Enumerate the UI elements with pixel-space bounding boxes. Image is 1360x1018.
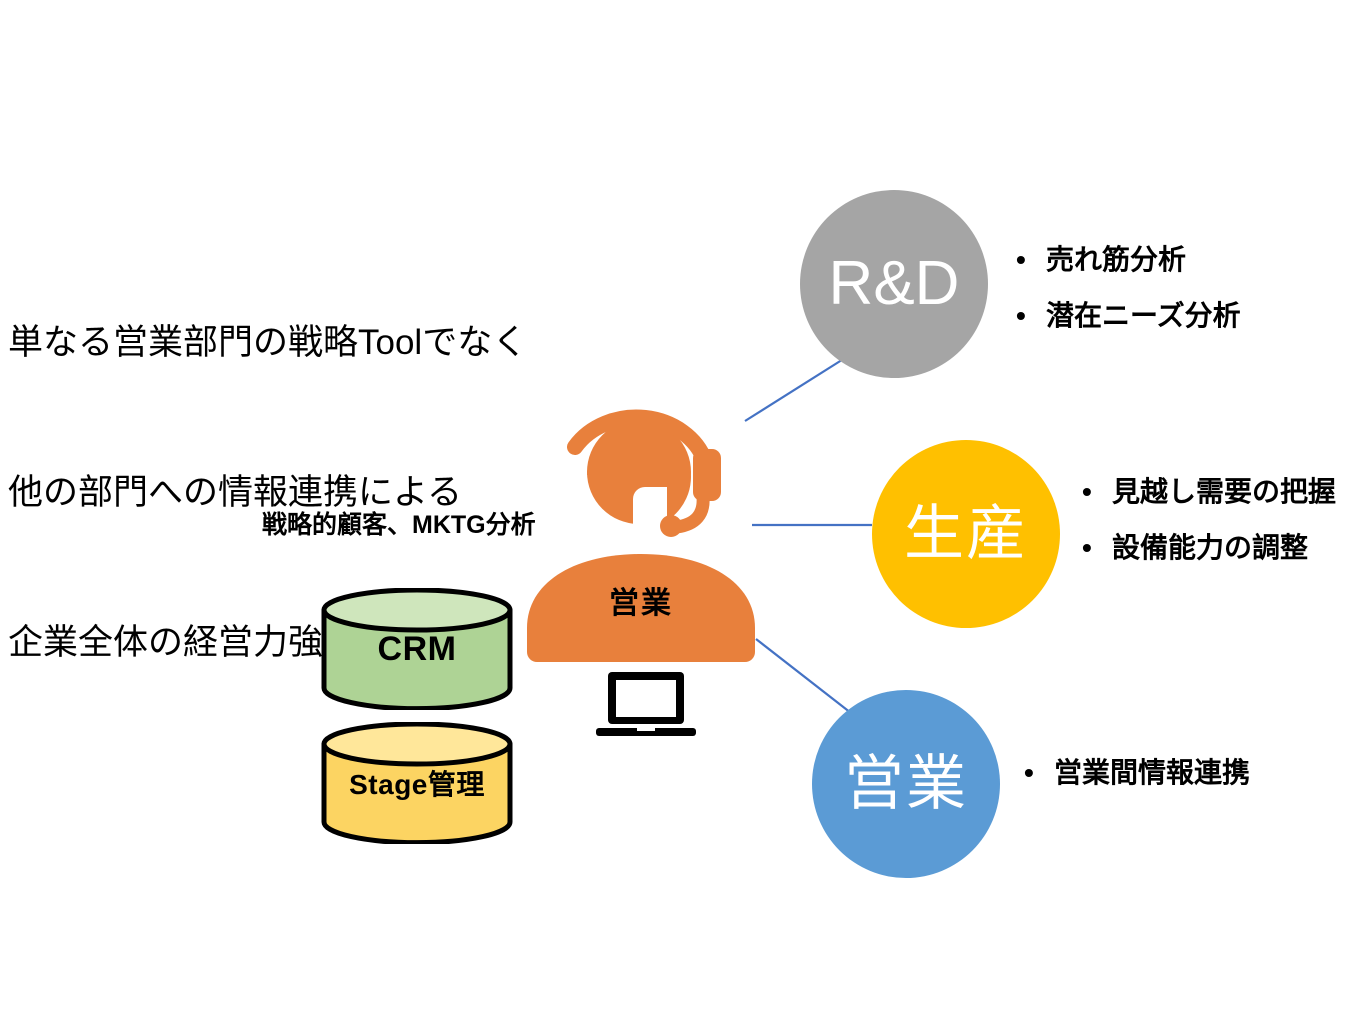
- datastore-stage[interactable]: [320, 722, 514, 844]
- connector-center-to-eigyo: [756, 639, 851, 713]
- bullet-item: 設備能力の調整: [1078, 520, 1336, 576]
- headset-operator-icon: [567, 393, 747, 553]
- bullet-item: 潜在ニーズ分析: [1012, 288, 1241, 344]
- strategic-customer-mktg-label: 戦略的顧客、MKTG分析: [262, 505, 536, 541]
- department-circle-rd[interactable]: R&D: [800, 190, 988, 378]
- connector-center-to-rd: [745, 358, 845, 421]
- sales-body-label: 営業: [525, 578, 757, 622]
- department-label-production: 生産: [904, 504, 1028, 564]
- laptop-icon: [596, 670, 696, 738]
- intro-line-1: 単なる営業部門の戦略Toolでなく: [8, 318, 628, 368]
- bullet-list-sales: 営業間情報連携: [1020, 745, 1250, 801]
- datastore-crm[interactable]: [320, 588, 514, 710]
- bullet-item: 営業間情報連携: [1020, 745, 1250, 801]
- bullet-list-rd: 売れ筋分析 潜在ニーズ分析: [1012, 232, 1241, 344]
- department-label-rd: R&D: [829, 253, 960, 315]
- department-label-sales: 営業: [844, 754, 968, 814]
- bullet-list-production: 見越し需要の把握 設備能力の調整: [1078, 464, 1336, 576]
- intro-paragraph: 単なる営業部門の戦略Toolでなく 他の部門への情報連携による 企業全体の経営力…: [8, 218, 628, 768]
- department-circle-production[interactable]: 生産: [872, 440, 1060, 628]
- bullet-item: 売れ筋分析: [1012, 232, 1241, 288]
- slide-canvas: 単なる営業部門の戦略Toolでなく 他の部門への情報連携による 企業全体の経営力…: [0, 0, 1360, 1018]
- bullet-item: 見越し需要の把握: [1078, 464, 1336, 520]
- department-circle-sales[interactable]: 営業: [812, 690, 1000, 878]
